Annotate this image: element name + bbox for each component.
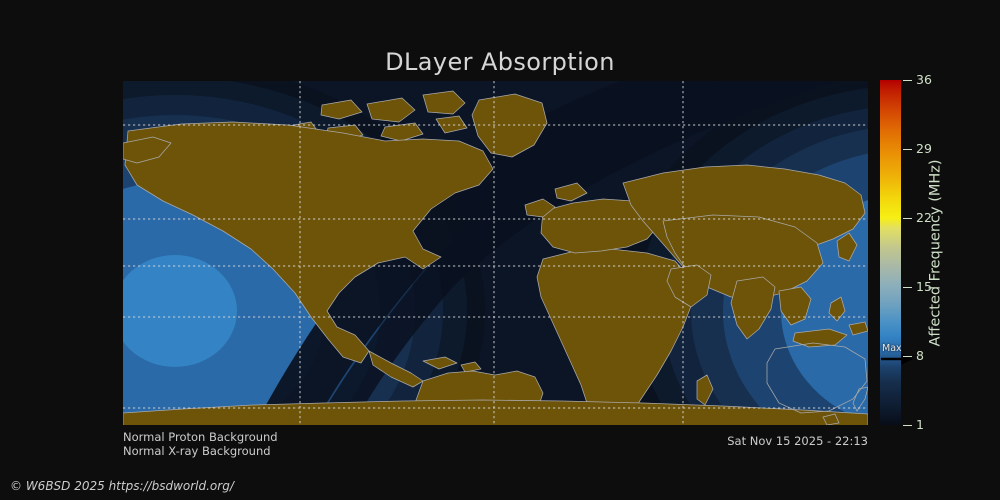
colorbar-axis-label-text: Affected Frequency (MHz) (928, 159, 944, 346)
proton-background-status: Normal Proton Background (123, 430, 278, 444)
figure-canvas: DLayer Absorption (0, 0, 1000, 500)
colorbar-tick-label: 1 (916, 417, 924, 432)
page-title: DLayer Absorption (0, 48, 1000, 76)
world-map-plot[interactable] (123, 81, 868, 425)
timestamp: Sat Nov 15 2025 - 22:13 (727, 434, 868, 448)
colorbar-gradient (880, 80, 901, 425)
colorbar-tick-label: 8 (916, 348, 924, 363)
xray-background-status: Normal X-ray Background (123, 444, 271, 458)
colorbar-tick-mark (903, 425, 912, 426)
colorbar[interactable]: Max 1815222936 (880, 80, 901, 425)
colorbar-tick-mark (903, 356, 912, 357)
colorbar-tick-mark (903, 287, 912, 288)
colorbar-tick-mark (903, 80, 912, 81)
graticule-layer (123, 81, 868, 425)
colorbar-tick-mark (903, 218, 912, 219)
copyright-notice: © W6BSD 2025 https://bsdworld.org/ (10, 479, 234, 493)
colorbar-axis-label: Affected Frequency (MHz) (924, 80, 948, 425)
colorbar-tick-mark (903, 149, 912, 150)
